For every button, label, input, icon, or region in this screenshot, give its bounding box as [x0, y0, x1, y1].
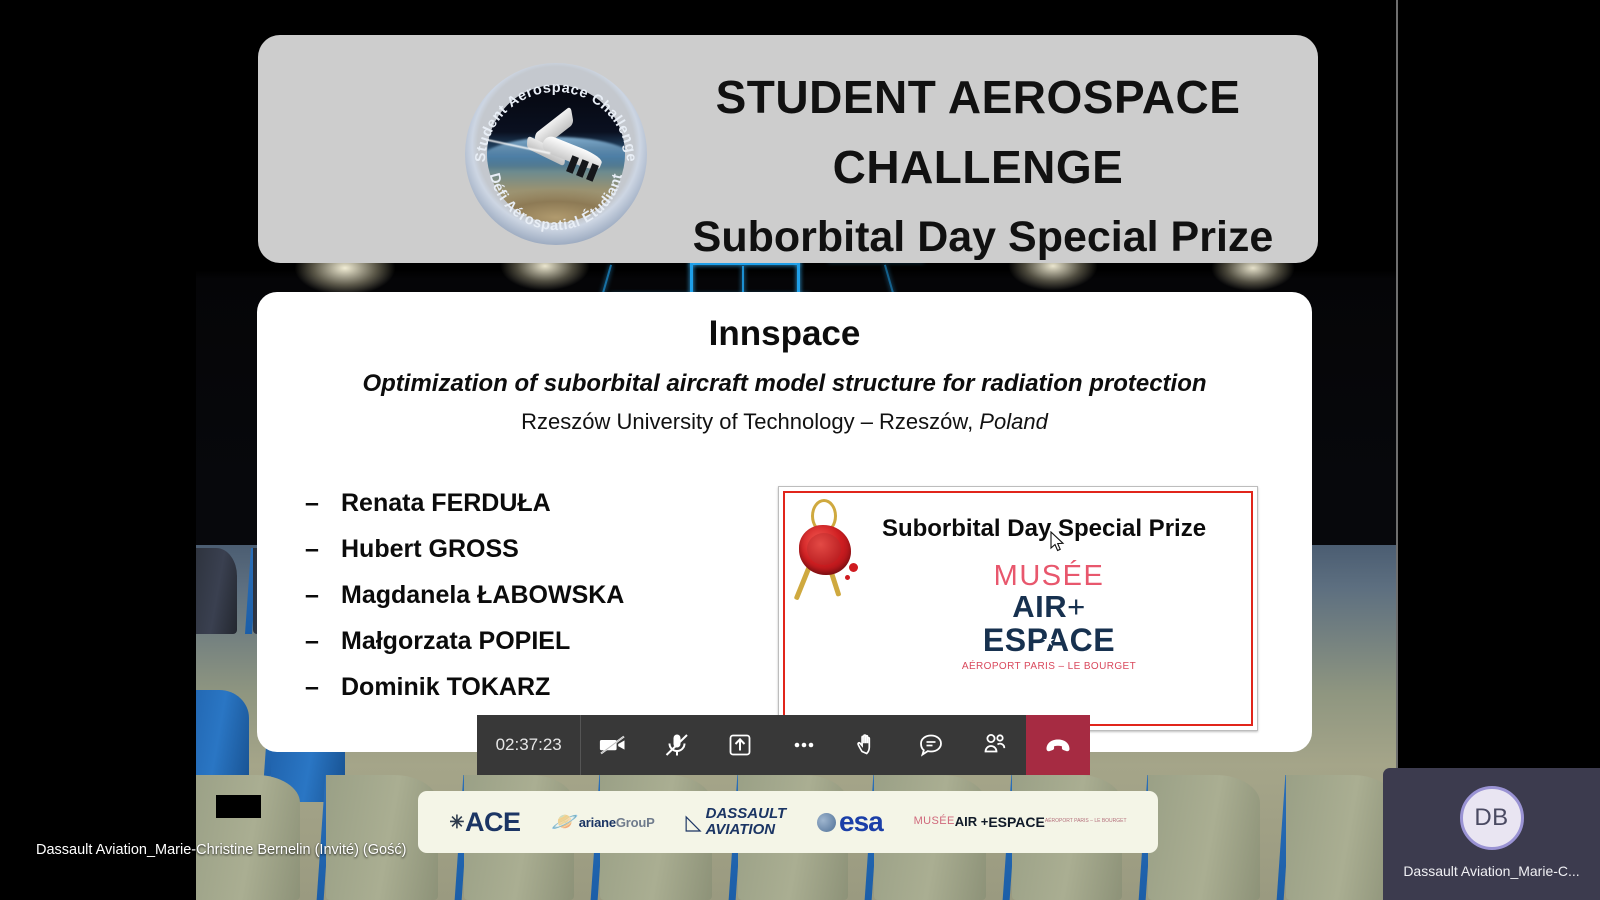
logo-line-air: AIR+ — [939, 591, 1159, 624]
sponsor-logo-dassault-aviation: ◺ DASSAULT AVIATION — [685, 806, 786, 838]
spaceplane-over-earth-icon: Student Aerospace Challenge Défi Aérospa… — [465, 63, 647, 245]
chat-button[interactable] — [899, 715, 963, 775]
bullet-dash: – — [305, 581, 341, 610]
team-member-name: Dominik TOKARZ — [341, 673, 550, 702]
slide-title: Innspace — [257, 314, 1312, 354]
badge-top-label: Student Aerospace Challenge — [473, 80, 639, 163]
presentation-slide: Innspace Optimization of suborbital airc… — [257, 292, 1312, 752]
sponsor-logo-esa: esa — [817, 806, 883, 838]
video-letterbox-left — [0, 0, 196, 900]
participant-tile[interactable]: DB Dassault Aviation_Marie-C... — [1383, 768, 1600, 900]
musee-air-espace-logo: MUSÉE AIR+ ESPACE★ AÉROPORT PARIS – LE B… — [939, 561, 1159, 672]
list-item: – Hubert GROSS — [305, 535, 775, 564]
share-screen-button[interactable] — [708, 715, 772, 775]
event-banner-subtitle: Suborbital Day Special Prize — [588, 213, 1378, 262]
orbit-swirl-icon: 🪐 — [551, 811, 578, 833]
speaker-name-caption: Dassault Aviation_Marie-Christine Bernel… — [36, 842, 406, 858]
video-artifact-block — [216, 795, 261, 818]
wax-seal-icon — [797, 499, 859, 603]
prize-label: Suborbital Day Special Prize — [854, 515, 1234, 543]
list-item: – Magdanela ŁABOWSKA — [305, 581, 775, 610]
affiliation-country: Poland — [979, 409, 1048, 434]
star-icon: ★ — [1043, 635, 1055, 649]
team-member-name: Renata FERDUŁA — [341, 489, 551, 518]
more-options-button[interactable] — [772, 715, 836, 775]
raise-hand-button[interactable] — [836, 715, 900, 775]
shared-video-feed[interactable]: STUDENT AEROSPACE CHALLENGE Suborbital D… — [0, 0, 1396, 900]
team-member-list: – Renata FERDUŁA – Hubert GROSS – Magdan… — [305, 489, 775, 719]
participant-tile-name: Dassault Aviation_Marie-C... — [1383, 863, 1600, 879]
camera-off-button[interactable] — [581, 715, 645, 775]
participant-rail — [1398, 0, 1600, 900]
mouse-cursor-icon — [1050, 531, 1066, 553]
logo-line-musee: MUSÉE — [939, 561, 1159, 591]
slide-affiliation: Rzeszów University of Technology – Rzesz… — [257, 409, 1312, 435]
team-member-name: Małgorzata POPIEL — [341, 627, 570, 656]
sponsor-logo-bar: ✳ACE 🪐 arianeGrouP ◺ DASSAULT AVIATION e… — [418, 791, 1158, 853]
list-item: – Dominik TOKARZ — [305, 673, 775, 702]
dassault-mark-icon: ◺ — [685, 810, 701, 835]
list-item: – Małgorzata POPIEL — [305, 627, 775, 656]
team-member-name: Magdanela ŁABOWSKA — [341, 581, 624, 610]
starburst-icon: ✳ — [449, 812, 464, 833]
event-banner: STUDENT AEROSPACE CHALLENGE Suborbital D… — [258, 35, 1318, 263]
logo-line-airport: AÉROPORT PARIS – LE BOURGET — [939, 661, 1159, 672]
bullet-dash: – — [305, 535, 341, 564]
bullet-dash: – — [305, 673, 341, 702]
special-prize-box: Suborbital Day Special Prize MUSÉE AIR+ … — [778, 486, 1258, 731]
bullet-dash: – — [305, 489, 341, 518]
logo-line-espace: ESPACE★ — [939, 624, 1159, 658]
affiliation-university: Rzeszów University of Technology – Rzesz… — [521, 409, 979, 434]
participants-button[interactable] — [963, 715, 1027, 775]
meeting-toolbar[interactable]: 02:37:23 — [477, 715, 1090, 775]
list-item: – Renata FERDUŁA — [305, 489, 775, 518]
event-banner-title: STUDENT AEROSPACE CHALLENGE — [658, 63, 1298, 203]
bullet-dash: – — [305, 627, 341, 656]
esa-globe-icon — [817, 813, 836, 832]
slide-subtitle: Optimization of suborbital aircraft mode… — [257, 370, 1312, 398]
sponsor-logo-ace: ✳ACE — [449, 807, 520, 838]
hang-up-button[interactable] — [1026, 715, 1090, 775]
badge-bottom-label: Défi Aérospatial Étudiant — [486, 171, 626, 234]
avatar-initials: DB — [1474, 804, 1508, 832]
mic-off-button[interactable] — [645, 715, 709, 775]
avatar: DB — [1460, 786, 1524, 850]
sponsor-logo-arianegroup: 🪐 arianeGrouP — [551, 811, 654, 834]
team-member-name: Hubert GROSS — [341, 535, 519, 564]
sponsor-logo-musee-air-espace: MUSÉE AIR + ESPACE AÉROPORT PARIS – LE B… — [914, 815, 1127, 829]
meeting-screen: STUDENT AEROSPACE CHALLENGE Suborbital D… — [0, 0, 1600, 900]
call-timer: 02:37:23 — [477, 735, 580, 755]
